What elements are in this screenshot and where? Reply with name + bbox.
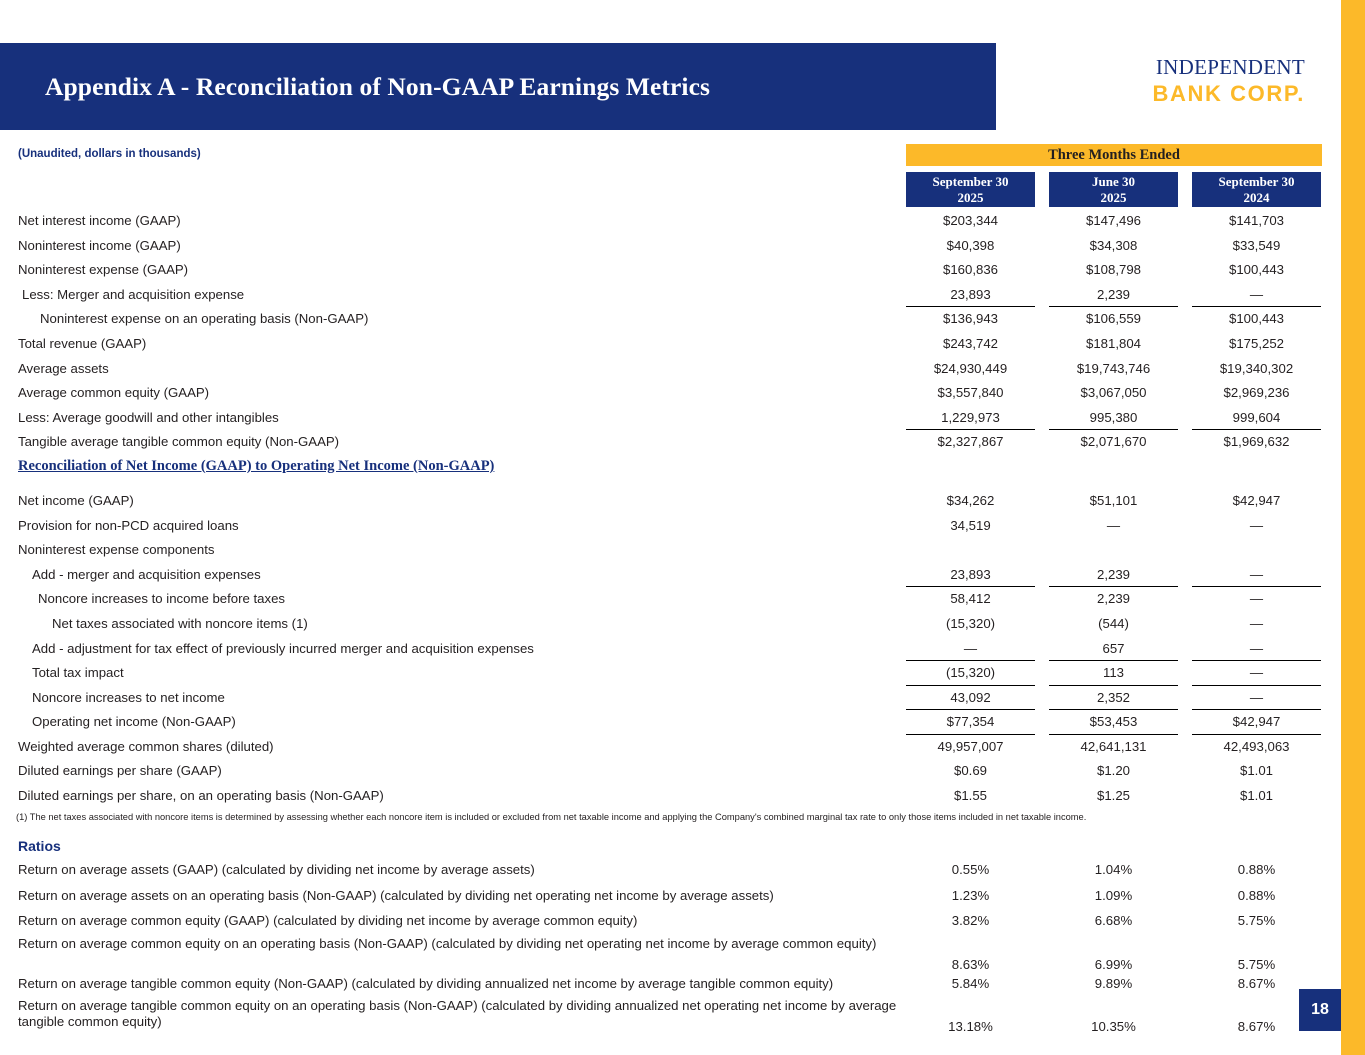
table-row: Add - merger and acquisition expenses 23…	[0, 563, 1341, 588]
row-value-col1: 49,957,007	[906, 739, 1035, 754]
row-value-col3: $33,549	[1192, 238, 1321, 253]
row-value-col3: —	[1192, 591, 1321, 606]
section-heading-row: Reconciliation of Net Income (GAAP) to O…	[0, 455, 1341, 489]
row-value-col1: —	[906, 641, 1035, 656]
row-label: Average assets	[18, 361, 109, 376]
row-value-col2: 1.04%	[1049, 862, 1178, 877]
row-value-col2: 2,239	[1049, 567, 1178, 582]
table-row: Operating net income (Non-GAAP) $77,354 …	[0, 710, 1341, 735]
table-row: Average assets $24,930,449 $19,743,746 $…	[0, 357, 1341, 382]
row-label: Operating net income (Non-GAAP)	[32, 714, 236, 729]
row-value-col3: —	[1192, 616, 1321, 631]
row-value-col2: 1.09%	[1049, 888, 1178, 903]
page-title: Appendix A - Reconciliation of Non-GAAP …	[45, 43, 710, 130]
row-value-col1: $40,398	[906, 238, 1035, 253]
column-header-line2: 2025	[1101, 190, 1127, 205]
row-label: Noncore increases to net income	[32, 690, 225, 705]
row-value-col3: —	[1192, 641, 1321, 656]
column-header-sep-30-2024: September 30 2024	[1192, 172, 1321, 207]
row-label: Provision for non-PCD acquired loans	[18, 518, 239, 533]
row-value-col3: $1.01	[1192, 788, 1321, 803]
row-label: Diluted earnings per share (GAAP)	[18, 763, 222, 778]
row-value-col3: $1,969,632	[1192, 434, 1321, 449]
row-value-col2: $108,798	[1049, 262, 1178, 277]
row-value-col2: 10.35%	[1049, 1019, 1178, 1034]
row-value-col2: 2,239	[1049, 287, 1178, 302]
row-label: Total revenue (GAAP)	[18, 336, 146, 351]
row-label: Noncore increases to income before taxes	[38, 591, 285, 606]
row-value-col1: 23,893	[906, 287, 1035, 302]
ratios-table: Return on average assets (GAAP) (calcula…	[0, 858, 1341, 1034]
section-heading-reconciliation: Reconciliation of Net Income (GAAP) to O…	[18, 458, 494, 475]
row-label: Return on average assets (GAAP) (calcula…	[18, 862, 535, 877]
row-value-col1: 43,092	[906, 690, 1035, 705]
row-value-col2: —	[1049, 518, 1178, 533]
row-value-col2: 6.99%	[1049, 957, 1178, 972]
row-value-col1: (15,320)	[906, 665, 1035, 680]
row-value-col1: (15,320)	[906, 616, 1035, 631]
row-value-col2: 113	[1049, 665, 1178, 680]
row-value-col1: 34,519	[906, 518, 1035, 533]
table-row: Total tax impact (15,320) 113 —	[0, 661, 1341, 686]
row-label: Add - adjustment for tax effect of previ…	[32, 641, 534, 656]
row-value-col3: $100,443	[1192, 262, 1321, 277]
row-value-col1: $1.55	[906, 788, 1035, 803]
row-value-col2: 657	[1049, 641, 1178, 656]
row-value-col3: $100,443	[1192, 311, 1321, 326]
row-label: Return on average assets on an operating…	[18, 888, 774, 903]
row-value-col1: $160,836	[906, 262, 1035, 277]
table-row: Return on average common equity (GAAP) (…	[0, 909, 1341, 935]
column-header-line2: 2025	[958, 190, 984, 205]
row-value-col2: 42,641,131	[1049, 739, 1178, 754]
row-value-col3: $42,947	[1192, 493, 1321, 508]
table-row: Weighted average common shares (diluted)…	[0, 735, 1341, 760]
row-label: Less: Merger and acquisition expense	[22, 287, 244, 302]
row-value-col2: $1.20	[1049, 763, 1178, 778]
footnote-1: (1) The net taxes associated with noncor…	[16, 812, 1316, 823]
row-value-col3: $1.01	[1192, 763, 1321, 778]
unaudited-note: (Unaudited, dollars in thousands)	[18, 148, 201, 160]
row-value-col2: 2,239	[1049, 591, 1178, 606]
row-value-col3: —	[1192, 665, 1321, 680]
row-label: Noninterest income (GAAP)	[18, 238, 181, 253]
row-label: Return on average tangible common equity…	[18, 976, 833, 991]
row-label: Tangible average tangible common equity …	[18, 434, 339, 449]
row-value-col2: $53,453	[1049, 714, 1178, 729]
row-label: Net interest income (GAAP)	[18, 213, 181, 228]
row-label: Net income (GAAP)	[18, 493, 134, 508]
row-label: Add - merger and acquisition expenses	[32, 567, 261, 582]
table-row: Net interest income (GAAP) $203,344 $147…	[0, 209, 1341, 234]
table-row: Net income (GAAP) $34,262 $51,101 $42,94…	[0, 489, 1341, 514]
row-value-col2: $181,804	[1049, 336, 1178, 351]
row-value-col1: 1.23%	[906, 888, 1035, 903]
table-row: Net taxes associated with noncore items …	[0, 612, 1341, 637]
reconciliation-table: Net interest income (GAAP) $203,344 $147…	[0, 209, 1341, 809]
title-bar: Appendix A - Reconciliation of Non-GAAP …	[0, 43, 996, 130]
row-value-col3: 5.75%	[1192, 957, 1321, 972]
row-value-col1: 58,412	[906, 591, 1035, 606]
table-row: Return on average tangible common equity…	[0, 972, 1341, 998]
table-row: Average common equity (GAAP) $3,557,840 …	[0, 381, 1341, 406]
row-value-col1: $24,930,449	[906, 361, 1035, 376]
row-value-col3: $42,947	[1192, 714, 1321, 729]
row-value-col3: 5.75%	[1192, 913, 1321, 928]
row-value-col1: $136,943	[906, 311, 1035, 326]
column-header-sep-30-2025: September 30 2025	[906, 172, 1035, 207]
row-value-col1: 23,893	[906, 567, 1035, 582]
row-label: Total tax impact	[32, 665, 124, 680]
row-label: Noninterest expense on an operating basi…	[40, 311, 368, 326]
row-value-col2: 6.68%	[1049, 913, 1178, 928]
row-value-col3: 0.88%	[1192, 888, 1321, 903]
ratios-heading: Ratios	[18, 838, 61, 854]
row-value-col3: $141,703	[1192, 213, 1321, 228]
row-value-col3: 999,604	[1192, 410, 1321, 425]
row-value-col2: $2,071,670	[1049, 434, 1178, 449]
row-value-col3: —	[1192, 518, 1321, 533]
row-value-col3: $2,969,236	[1192, 385, 1321, 400]
column-group-header: Three Months Ended	[906, 144, 1322, 166]
row-value-col1: 13.18%	[906, 1019, 1035, 1034]
row-value-col3: —	[1192, 690, 1321, 705]
row-value-col2: $3,067,050	[1049, 385, 1178, 400]
column-header-line1: June 30	[1092, 174, 1135, 189]
row-value-col2: 2,352	[1049, 690, 1178, 705]
row-label: Less: Average goodwill and other intangi…	[18, 410, 279, 425]
row-value-col1: 3.82%	[906, 913, 1035, 928]
column-header-line1: September 30	[933, 174, 1009, 189]
table-row: Return on average assets (GAAP) (calcula…	[0, 858, 1341, 884]
row-value-col2: (544)	[1049, 616, 1178, 631]
row-value-col3: 42,493,063	[1192, 739, 1321, 754]
row-value-col1: 8.63%	[906, 957, 1035, 972]
table-row: Provision for non-PCD acquired loans 34,…	[0, 514, 1341, 539]
row-label: Net taxes associated with noncore items …	[52, 616, 308, 631]
table-row: Less: Average goodwill and other intangi…	[0, 406, 1341, 431]
row-value-col1: $243,742	[906, 336, 1035, 351]
row-value-col1: $0.69	[906, 763, 1035, 778]
table-row: Return on average tangible common equity…	[0, 997, 1341, 1034]
logo-wordmark-independent: Independent	[1030, 50, 1305, 80]
table-row: Noninterest expense components	[0, 538, 1341, 563]
table-row: Diluted earnings per share (GAAP) $0.69 …	[0, 759, 1341, 784]
logo-wordmark-bank-corp: BANK CORP.	[1030, 82, 1305, 106]
table-row: Noninterest expense on an operating basi…	[0, 307, 1341, 332]
table-row: Noninterest expense (GAAP) $160,836 $108…	[0, 258, 1341, 283]
table-row: Add - adjustment for tax effect of previ…	[0, 637, 1341, 662]
table-row: Less: Merger and acquisition expense 23,…	[0, 283, 1341, 308]
row-value-col2: 995,380	[1049, 410, 1178, 425]
table-row: Total revenue (GAAP) $243,742 $181,804 $…	[0, 332, 1341, 357]
row-value-col2: $1.25	[1049, 788, 1178, 803]
row-value-col3: $19,340,302	[1192, 361, 1321, 376]
row-value-col1: $34,262	[906, 493, 1035, 508]
company-logo: Independent BANK CORP.	[1030, 50, 1305, 106]
row-label: Return on average tangible common equity…	[18, 998, 918, 1029]
row-value-col2: 9.89%	[1049, 976, 1178, 991]
row-value-col3: $175,252	[1192, 336, 1321, 351]
row-value-col1: 5.84%	[906, 976, 1035, 991]
row-value-col1: 1,229,973	[906, 410, 1035, 425]
column-header-line2: 2024	[1244, 190, 1270, 205]
row-value-col1: $3,557,840	[906, 385, 1035, 400]
row-value-col1: 0.55%	[906, 862, 1035, 877]
row-value-col3: —	[1192, 287, 1321, 302]
row-value-col2: $34,308	[1049, 238, 1178, 253]
table-row: Diluted earnings per share, on an operat…	[0, 784, 1341, 809]
row-value-col1: $203,344	[906, 213, 1035, 228]
row-label: Average common equity (GAAP)	[18, 385, 209, 400]
table-row: Noncore increases to income before taxes…	[0, 587, 1341, 612]
row-label: Noninterest expense components	[18, 542, 214, 557]
row-label: Noninterest expense (GAAP)	[18, 262, 188, 277]
column-header-line1: September 30	[1219, 174, 1295, 189]
row-label: Weighted average common shares (diluted)	[18, 739, 274, 754]
table-row: Return on average assets on an operating…	[0, 884, 1341, 910]
page-number-badge: 18	[1299, 989, 1341, 1031]
column-header-jun-30-2025: June 30 2025	[1049, 172, 1178, 207]
row-value-col2: $147,496	[1049, 213, 1178, 228]
row-value-col2: $51,101	[1049, 493, 1178, 508]
row-value-col2: $19,743,746	[1049, 361, 1178, 376]
row-value-col1: $77,354	[906, 714, 1035, 729]
row-value-col3: 0.88%	[1192, 862, 1321, 877]
table-row: Noncore increases to net income 43,092 2…	[0, 686, 1341, 711]
row-value-col1: $2,327,867	[906, 434, 1035, 449]
row-label: Return on average common equity on an op…	[18, 936, 918, 952]
row-value-col2: $106,559	[1049, 311, 1178, 326]
row-value-col3: —	[1192, 567, 1321, 582]
table-row: Return on average common equity on an op…	[0, 935, 1341, 972]
right-edge-accent-stripe	[1341, 0, 1365, 1055]
table-row: Tangible average tangible common equity …	[0, 430, 1341, 455]
table-row: Noninterest income (GAAP) $40,398 $34,30…	[0, 234, 1341, 259]
row-label: Diluted earnings per share, on an operat…	[18, 788, 384, 803]
row-label: Return on average common equity (GAAP) (…	[18, 913, 637, 928]
